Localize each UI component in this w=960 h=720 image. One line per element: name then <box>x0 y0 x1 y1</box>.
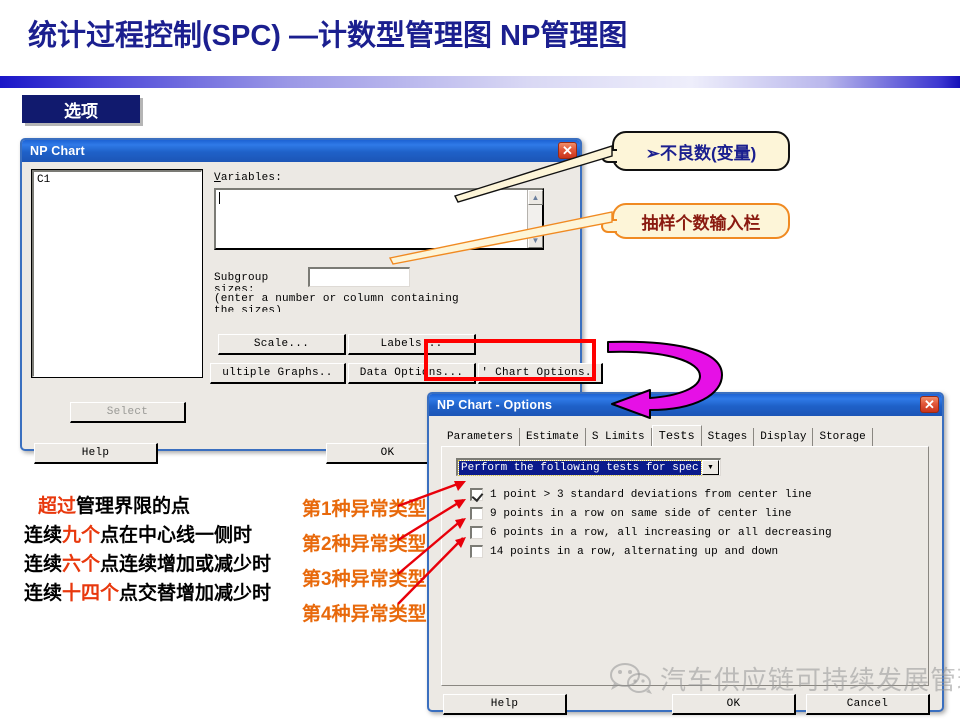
test-2-checkbox[interactable] <box>470 507 483 520</box>
test-row-4[interactable]: 14 points in a row, alternating up and d… <box>470 545 778 558</box>
subgroup-size-input[interactable] <box>308 267 410 287</box>
rule-type-2: 第2种异常类型 <box>302 527 427 562</box>
variables-scrollbar[interactable]: ▲ ▼ <box>527 190 542 248</box>
options-help-button[interactable]: Help <box>443 694 567 715</box>
test-4-label: 14 points in a row, alternating up and d… <box>490 546 778 558</box>
np-help-label: Help <box>82 447 110 459</box>
np-options-titlebar: NP Chart - Options ✕ <box>429 394 942 416</box>
np-options-title: NP Chart - Options <box>437 398 552 412</box>
options-help-label: Help <box>491 698 519 710</box>
multiple-graphs-button[interactable]: ultiple Graphs.. <box>210 363 346 384</box>
rule-1-highlight: 超过 <box>38 496 76 517</box>
subgroup-hint-l1: (enter a number or column containing <box>214 293 459 305</box>
np-options-dialog: NP Chart - Options ✕ Parameters Estimate… <box>427 392 944 712</box>
rule-type-1: 第1种异常类型 <box>302 492 427 527</box>
scale-button[interactable]: Scale... <box>218 334 346 355</box>
tab-storage-label: Storage <box>819 431 865 443</box>
tab-display[interactable]: Display <box>754 428 813 446</box>
tab-s-limits-label: S Limits <box>592 431 645 443</box>
rule-4-suffix: 点交替增加减少时 <box>119 583 271 604</box>
slide-canvas: 统计过程控制(SPC) —计数型管理图 NP管理图 选项 NP Chart ✕ … <box>0 0 960 720</box>
rule-2-prefix: 连续 <box>24 525 62 546</box>
scale-button-label: Scale... <box>254 338 309 350</box>
text-caret <box>219 192 220 204</box>
test-4-checkbox[interactable] <box>470 545 483 558</box>
tests-mode-value: Perform the following tests for spec <box>459 461 701 475</box>
rule-3-suffix: 点连续增加或减少时 <box>100 554 271 575</box>
close-icon[interactable]: ✕ <box>920 396 939 413</box>
options-cancel-label: Cancel <box>847 698 888 710</box>
tab-parameters-label: Parameters <box>447 431 513 443</box>
chevron-down-icon[interactable]: ▼ <box>702 460 719 475</box>
test-1-checkbox[interactable] <box>470 488 483 501</box>
rule-type-4: 第4种异常类型 <box>302 597 427 632</box>
header-divider <box>0 76 960 88</box>
callout-tail <box>601 219 617 233</box>
rule-line-3: 连续六个点连续增加或减少时 <box>24 550 271 579</box>
np-options-body: Parameters Estimate S Limits Tests Stage… <box>429 416 942 710</box>
rule-line-4: 连续十四个点交替增加减少时 <box>24 579 271 608</box>
rule-4-highlight: 十四个 <box>62 583 119 604</box>
np-chart-titlebar: NP Chart ✕ <box>22 140 580 162</box>
np-help-button[interactable]: Help <box>34 443 158 464</box>
tab-display-label: Display <box>760 431 806 443</box>
callout-subgroup-size: 抽样个数输入栏 <box>612 203 790 239</box>
variables-input[interactable] <box>214 188 544 250</box>
select-button: Select <box>70 402 186 423</box>
test-3-label: 6 points in a row, all increasing or all… <box>490 527 832 539</box>
rule-1-suffix: 管理界限的点 <box>76 496 190 517</box>
options-tabstrip: Parameters Estimate S Limits Tests Stage… <box>441 425 873 446</box>
page-title: 统计过程控制(SPC) —计数型管理图 NP管理图 <box>28 12 627 54</box>
tab-storage[interactable]: Storage <box>813 428 872 446</box>
rule-2-highlight: 九个 <box>62 525 100 546</box>
tab-tests-label: Tests <box>659 429 695 443</box>
scroll-down-icon[interactable]: ▼ <box>528 233 543 248</box>
rule-line-2: 连续九个点在中心线一侧时 <box>24 521 271 550</box>
test-3-checkbox[interactable] <box>470 526 483 539</box>
callout-defectives: ➢不良数(变量) <box>612 131 790 171</box>
rule-line-1: 超过管理界限的点 <box>38 492 271 521</box>
tests-tab-panel <box>441 446 929 686</box>
test-2-label: 9 points in a row on same side of center… <box>490 508 792 520</box>
tab-stages[interactable]: Stages <box>702 428 755 446</box>
tests-mode-combo[interactable]: Perform the following tests for spec ▼ <box>456 458 721 476</box>
subgroup-size-label-l1: Subgroup <box>214 272 268 284</box>
section-tab-options[interactable]: 选项 <box>22 95 140 123</box>
subgroup-size-label-l2: sizes: <box>214 284 255 291</box>
rule-2-suffix: 点在中心线一侧时 <box>100 525 252 546</box>
rule-3-highlight: 六个 <box>62 554 100 575</box>
test-row-1[interactable]: 1 point > 3 standard deviations from cen… <box>470 488 812 501</box>
rule-3-prefix: 连续 <box>24 554 62 575</box>
rule-types-list: 第1种异常类型 第2种异常类型 第3种异常类型 第4种异常类型 <box>302 492 427 632</box>
close-icon[interactable]: ✕ <box>558 142 577 159</box>
chart-options-highlight <box>424 339 596 381</box>
options-ok-label: OK <box>727 698 741 710</box>
columns-listbox[interactable]: C1 <box>32 170 202 377</box>
list-item[interactable]: C1 <box>37 174 198 186</box>
test-row-3[interactable]: 6 points in a row, all increasing or all… <box>470 526 832 539</box>
np-chart-title: NP Chart <box>30 144 85 158</box>
tab-stages-label: Stages <box>708 431 748 443</box>
rule-type-3: 第3种异常类型 <box>302 562 427 597</box>
rules-list: 超过管理界限的点 连续九个点在中心线一侧时 连续六个点连续增加或减少时 连续十四… <box>38 492 271 608</box>
tab-tests[interactable]: Tests <box>652 425 702 446</box>
scroll-track[interactable] <box>528 205 542 233</box>
options-cancel-button[interactable]: Cancel <box>806 694 930 715</box>
np-ok-label: OK <box>381 447 395 459</box>
scroll-up-icon[interactable]: ▲ <box>528 190 543 205</box>
test-row-2[interactable]: 9 points in a row on same side of center… <box>470 507 792 520</box>
subgroup-hint-l2: the sizes) <box>214 305 282 312</box>
callout-tail <box>601 149 617 163</box>
variables-label: Variables: <box>214 172 282 184</box>
tab-s-limits[interactable]: S Limits <box>586 428 652 446</box>
tab-parameters[interactable]: Parameters <box>441 428 520 446</box>
options-ok-button[interactable]: OK <box>672 694 796 715</box>
multiple-graphs-label: ultiple Graphs.. <box>222 367 332 379</box>
rule-4-prefix: 连续 <box>24 583 62 604</box>
select-button-label: Select <box>107 406 148 418</box>
tab-estimate[interactable]: Estimate <box>520 428 586 446</box>
callout-defectives-label: ➢不良数(变量) <box>646 139 757 164</box>
test-1-label: 1 point > 3 standard deviations from cen… <box>490 489 812 501</box>
tab-estimate-label: Estimate <box>526 431 579 443</box>
callout-subgroup-size-label: 抽样个数输入栏 <box>642 209 761 234</box>
